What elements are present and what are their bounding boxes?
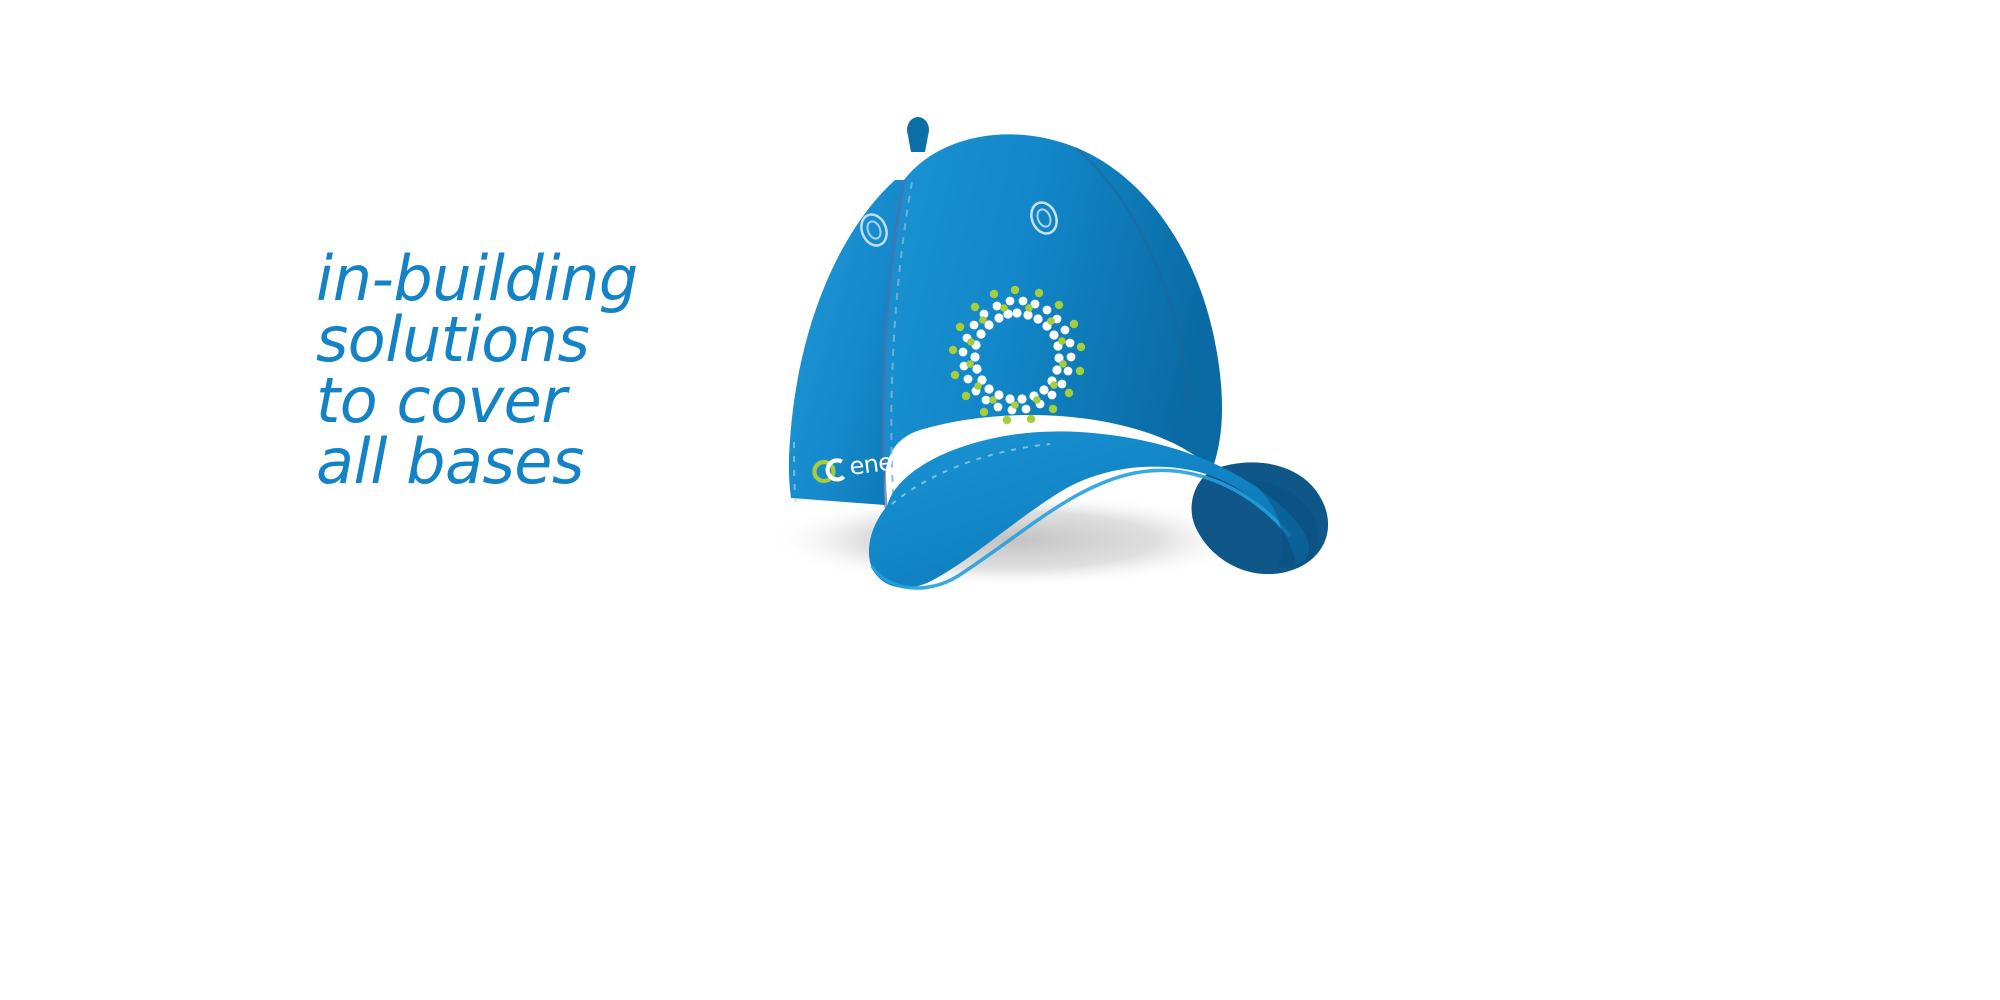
baseball-cap-illustration: energy xyxy=(690,110,1450,650)
poster-canvas: in-building solutions to cover all bases xyxy=(0,0,2000,1000)
